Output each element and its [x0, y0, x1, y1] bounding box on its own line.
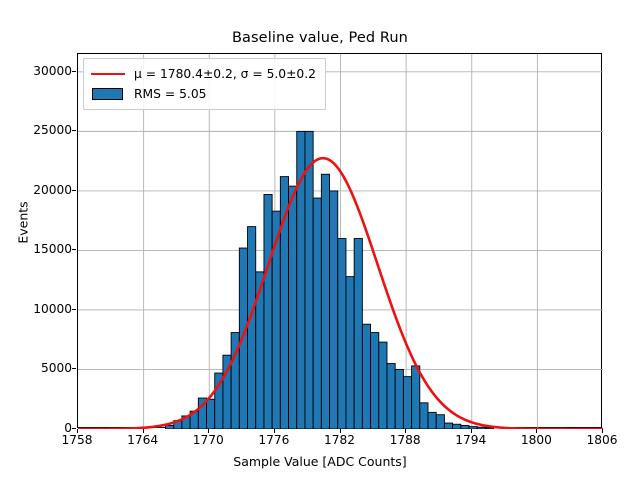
- x-tick-label: 1806: [570, 433, 634, 447]
- histogram-bar: [305, 131, 313, 429]
- legend-line-swatch: [91, 67, 125, 81]
- histogram-bar: [362, 324, 370, 429]
- histogram-bar: [428, 412, 436, 429]
- legend-item-hist: RMS = 5.05: [91, 84, 316, 104]
- histogram-bar: [264, 194, 272, 429]
- histogram-bar: [239, 248, 247, 429]
- y-tick-mark: [72, 368, 76, 369]
- y-tick-mark: [72, 71, 76, 72]
- histogram-bar: [338, 239, 346, 429]
- histogram-bar: [469, 427, 477, 429]
- x-tick-mark: [536, 429, 537, 433]
- x-tick-label: 1770: [176, 433, 240, 447]
- histogram-bar: [313, 198, 321, 429]
- histogram-bar: [330, 191, 338, 429]
- y-tick-label: 20000: [10, 183, 72, 197]
- histogram-bar: [403, 377, 411, 429]
- y-tick-label: 25000: [10, 123, 72, 137]
- histogram-bar: [387, 364, 395, 429]
- y-tick-mark: [72, 428, 76, 429]
- x-tick-mark: [143, 429, 144, 433]
- legend-label-hist: RMS = 5.05: [134, 87, 206, 101]
- x-tick-mark: [274, 429, 275, 433]
- y-tick-label: 15000: [10, 242, 72, 256]
- histogram-bar: [395, 369, 403, 429]
- legend-item-fit: μ = 1780.4±0.2, σ = 5.0±0.2: [91, 64, 316, 84]
- x-tick-mark: [77, 429, 78, 433]
- histogram-bar: [477, 427, 485, 429]
- x-tick-label: 1764: [111, 433, 175, 447]
- x-tick-label: 1794: [439, 433, 503, 447]
- x-tick-mark: [405, 429, 406, 433]
- legend-label-fit: μ = 1780.4±0.2, σ = 5.0±0.2: [134, 67, 316, 81]
- histogram-bar: [321, 174, 329, 429]
- x-tick-mark: [208, 429, 209, 433]
- histogram-bar: [420, 403, 428, 429]
- histogram-bar: [248, 227, 256, 429]
- x-tick-label: 1800: [504, 433, 568, 447]
- x-tick-mark: [602, 429, 603, 433]
- y-axis-ticks: 050001000015000200002500030000: [0, 53, 72, 428]
- x-axis-ticks: 175817641770177617821788179418001806: [77, 433, 602, 453]
- chart-figure: Baseline value, Ped Run Events Sample Va…: [0, 0, 640, 480]
- x-tick-label: 1782: [308, 433, 372, 447]
- histogram-bar: [444, 423, 452, 429]
- y-tick-mark: [72, 249, 76, 250]
- histogram-bar: [207, 399, 215, 429]
- histogram-bar: [453, 424, 461, 429]
- y-tick-mark: [72, 309, 76, 310]
- histogram-bar: [166, 425, 174, 429]
- x-axis-label: Sample Value [ADC Counts]: [0, 454, 640, 469]
- x-tick-label: 1776: [242, 433, 306, 447]
- histogram-bar: [371, 333, 379, 429]
- x-tick-mark: [340, 429, 341, 433]
- y-tick-mark: [72, 190, 76, 191]
- chart-title: Baseline value, Ped Run: [0, 30, 640, 46]
- histogram-bars: [166, 131, 494, 429]
- histogram-bar: [436, 415, 444, 429]
- x-tick-label: 1758: [45, 433, 109, 447]
- histogram-bar: [289, 186, 297, 429]
- histogram-bar: [346, 277, 354, 429]
- y-tick-label: 30000: [10, 64, 72, 78]
- histogram-bar: [354, 239, 362, 429]
- y-tick-label: 10000: [10, 302, 72, 316]
- histogram-bar: [379, 342, 387, 429]
- legend: μ = 1780.4±0.2, σ = 5.0±0.2 RMS = 5.05: [83, 58, 326, 110]
- y-tick-mark: [72, 130, 76, 131]
- histogram-plot: [78, 54, 603, 429]
- histogram-bar: [412, 366, 420, 429]
- histogram-bar: [461, 425, 469, 429]
- y-tick-label: 5000: [10, 361, 72, 375]
- x-tick-label: 1788: [373, 433, 437, 447]
- legend-patch-swatch: [91, 87, 125, 101]
- x-tick-mark: [471, 429, 472, 433]
